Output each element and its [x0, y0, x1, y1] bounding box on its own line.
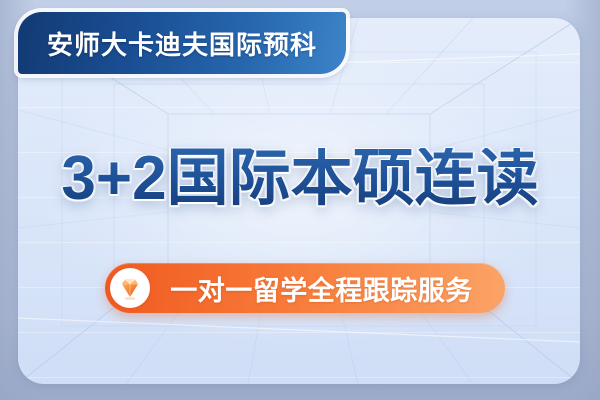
header-badge-label: 安师大卡迪夫国际预科 — [47, 25, 317, 62]
headline-container: 3+2国际本硕连读 — [0, 148, 600, 210]
diamond-gem-icon — [110, 268, 150, 308]
cta-pill[interactable]: 一对一留学全程跟踪服务 — [105, 263, 505, 313]
page-title: 3+2国际本硕连读 — [61, 148, 538, 210]
cta-pill-label: 一对一留学全程跟踪服务 — [150, 269, 505, 308]
promo-banner: 安师大卡迪夫国际预科 3+2国际本硕连读 — [0, 0, 600, 400]
header-badge: 安师大卡迪夫国际预科 — [18, 12, 346, 74]
